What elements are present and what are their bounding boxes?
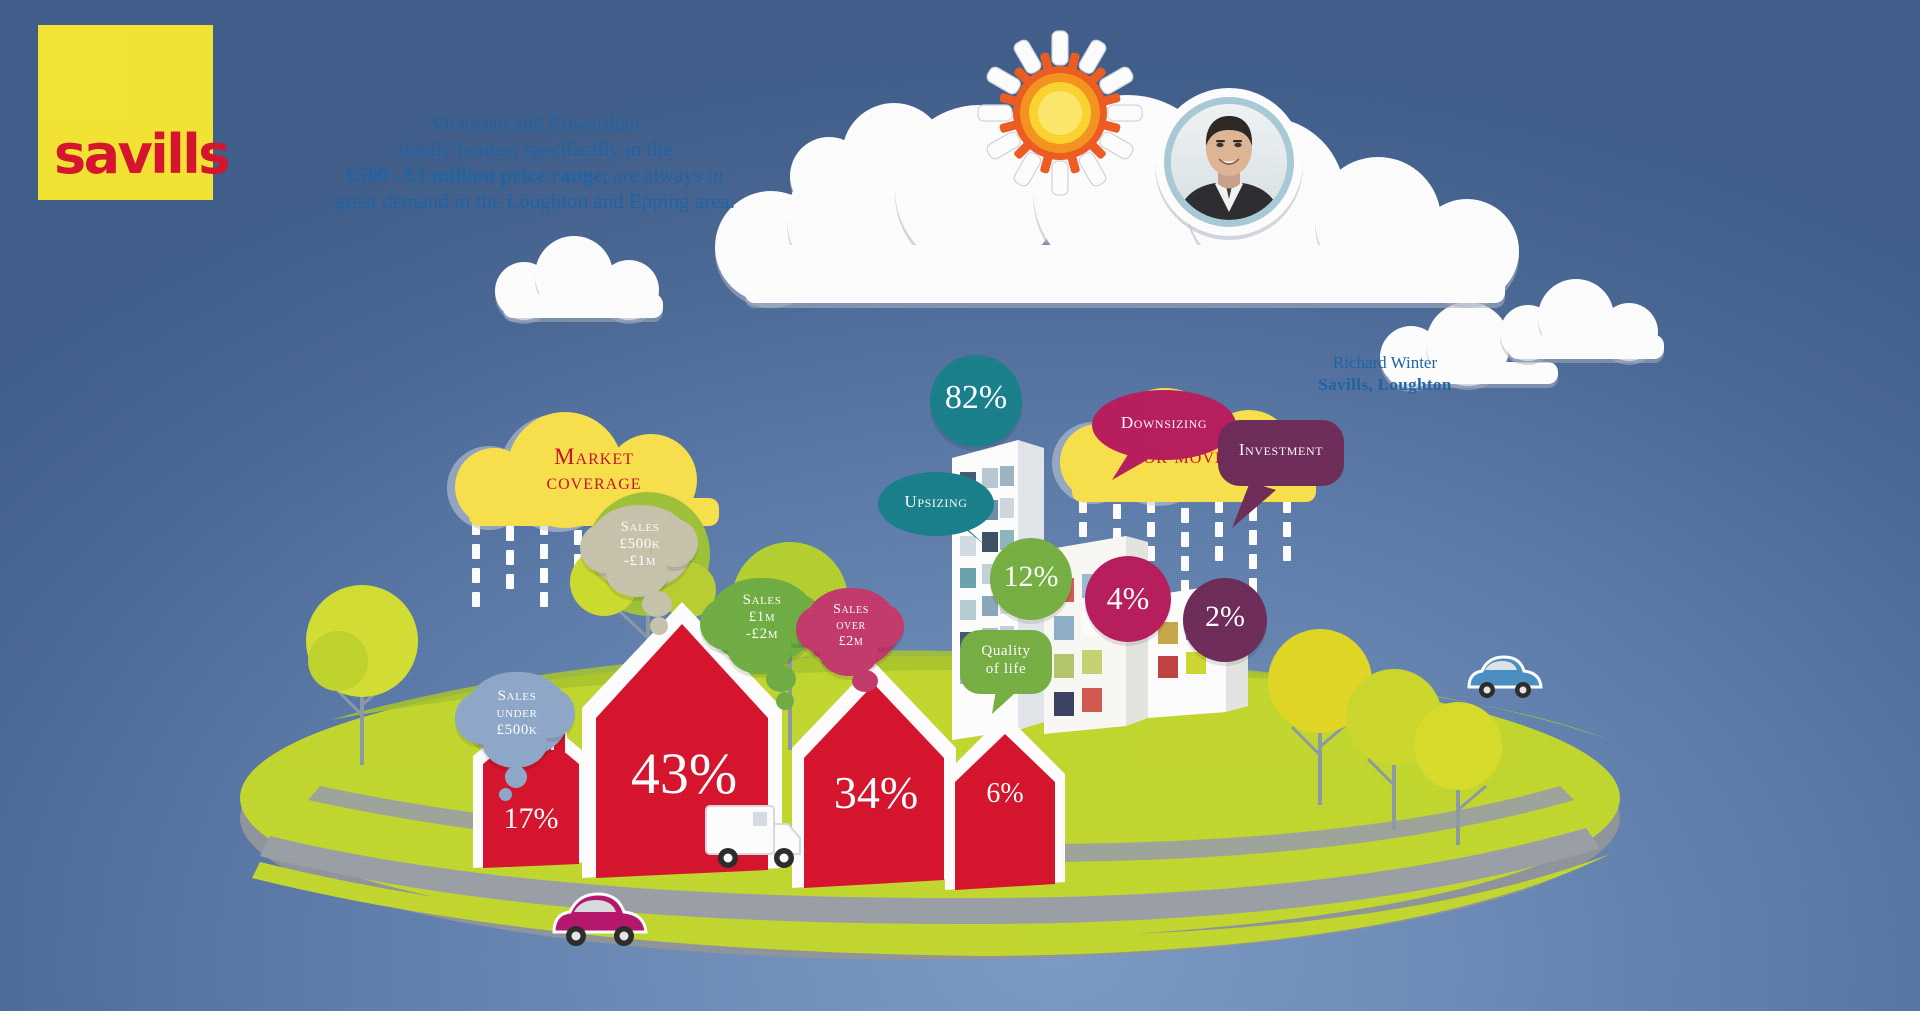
reason-label-upsizing: Upsizing — [878, 492, 994, 512]
avatar-photo — [1171, 104, 1287, 220]
price-band-1-line2: £500k — [592, 536, 688, 553]
reason-label-bubble-upsizing[interactable]: Upsizing — [878, 470, 998, 546]
reason-pct-82: 82% — [930, 379, 1022, 417]
quote-company: Savills, Loughton — [1260, 374, 1510, 396]
reason-label-quality-line2: of life — [960, 660, 1052, 678]
price-band-bubble-3[interactable]: Sales over £2m — [796, 588, 906, 718]
reason-pct-bubble-82[interactable]: 82% — [930, 355, 1022, 447]
reason-label-bubble-investment[interactable]: Investment — [1218, 420, 1348, 528]
reason-pct-bubble-2[interactable]: 2% — [1183, 578, 1267, 662]
quote-price-range: £500 - £1 million price range, — [346, 163, 607, 187]
car-blue-icon — [1465, 645, 1545, 703]
car-magenta-icon — [548, 880, 652, 952]
savills-wordmark: savills — [54, 128, 228, 182]
sun-icon — [975, 28, 1145, 198]
quote-line-4: great demand in the Loughton and Epping … — [300, 188, 770, 214]
house-bar-3-value: 6% — [957, 778, 1053, 810]
avatar-ring — [1164, 97, 1294, 227]
house-bar-0-value: 17% — [483, 802, 579, 836]
price-band-0-line3: £500k — [469, 722, 565, 739]
price-band-bubble-0[interactable]: Sales under £500k — [455, 672, 575, 802]
reason-pct-bubble-4[interactable]: 4% — [1085, 556, 1171, 642]
quote-attribution: Richard Winter Savills, Loughton — [1260, 352, 1510, 396]
tree-left-1 — [300, 565, 430, 765]
price-band-3-line3: £2m — [808, 634, 894, 650]
background-cloud-small-left — [495, 232, 695, 312]
infographic-canvas: savills — [0, 0, 1920, 1011]
reason-label-downsizing: Downsizing — [1092, 413, 1236, 433]
tree-right-3 — [1400, 690, 1520, 845]
quote-line-3-rest: are always in — [608, 163, 724, 187]
avatar — [1155, 88, 1303, 236]
price-band-3-line1: Sales — [808, 602, 894, 618]
quote-text: Victorian and Edwardian family homes, sp… — [300, 110, 770, 214]
price-band-3-line2: over — [808, 618, 894, 634]
price-band-0-line1: Sales — [469, 688, 565, 705]
quote-line-3: £500 - £1 million price range, are alway… — [300, 162, 770, 188]
house-bar-3: 6% — [935, 692, 1075, 892]
reason-label-quality-line1: Quality — [960, 642, 1052, 660]
reason-label-bubble-quality[interactable]: Quality of life — [960, 630, 1056, 714]
price-band-bubble-1[interactable]: Sales £500k -£1m — [580, 505, 700, 645]
reason-label-bubble-downsizing[interactable]: Downsizing — [1092, 388, 1238, 480]
reason-pct-bubble-12[interactable]: 12% — [990, 538, 1072, 620]
reason-label-investment: Investment — [1218, 440, 1344, 460]
reason-pct-4: 4% — [1085, 580, 1171, 617]
price-band-0-line2: under — [469, 705, 565, 722]
reason-pct-12: 12% — [990, 560, 1072, 594]
reason-pct-2: 2% — [1183, 600, 1267, 634]
price-band-1-line1: Sales — [592, 519, 688, 536]
quote-line-2: family homes, specifically in the — [300, 136, 770, 162]
savills-logo: savills — [38, 25, 213, 200]
price-band-1-line3: -£1m — [592, 553, 688, 570]
house-bar-2-value: 34% — [806, 766, 946, 819]
quote-line-1: Victorian and Edwardian — [300, 110, 770, 136]
truck-icon — [700, 790, 810, 876]
quote-author: Richard Winter — [1260, 352, 1510, 374]
